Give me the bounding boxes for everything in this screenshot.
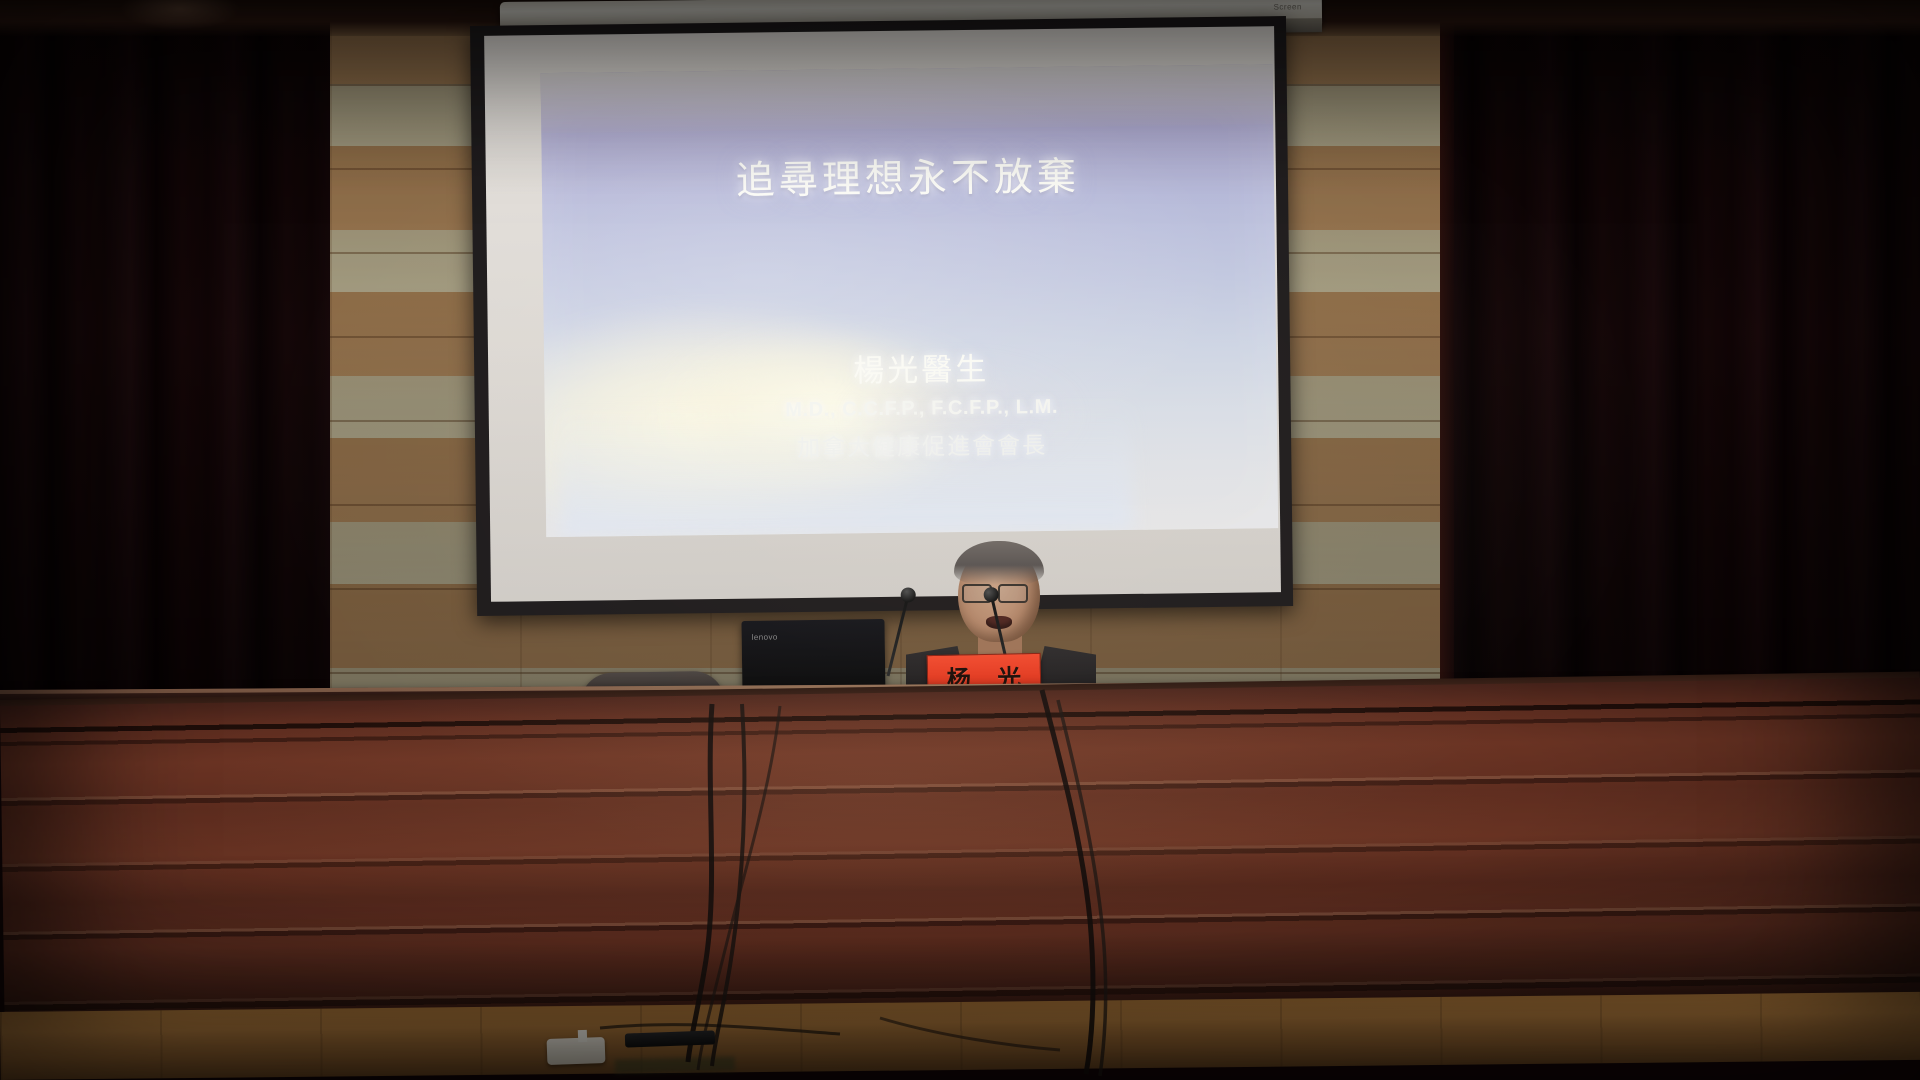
stage-curtain-right [1420,0,1920,740]
slide-top-band [541,64,1274,133]
hair [954,541,1044,585]
slide-speaker-name: 楊光醫生 [566,347,1276,394]
screen-surface: 追尋理想永不放棄 楊光醫生 M.D., C.C.F.P., F.C.F.P., … [484,26,1281,602]
power-strip [547,1037,606,1065]
roller-brand-label: Screen [1274,2,1302,11]
lecture-hall-photo: Screen 追尋理想永不放棄 楊光醫生 M.D., C.C.F.P., F.C… [0,0,1920,1080]
ceiling-fixture-smudge [120,0,240,30]
stage-curtain-left [0,0,350,740]
laptop-brand-logo: lenovo [752,632,778,641]
slide-title: 追尋理想永不放棄 [542,143,1275,208]
eyeglasses-right-lens [998,584,1028,603]
slide-byline-block: 楊光醫生 M.D., C.C.F.P., F.C.F.P., L.M. 加拿大健… [544,347,1277,466]
slide-organization: 加拿大健康促進會會長 [567,423,1277,466]
projection-screen: 追尋理想永不放棄 楊光醫生 M.D., C.C.F.P., F.C.F.P., … [470,16,1293,616]
projected-slide: 追尋理想永不放棄 楊光醫生 M.D., C.C.F.P., F.C.F.P., … [541,64,1279,537]
power-strip-plug [578,1030,587,1042]
stage-shading [0,678,1920,1036]
slide-credentials: M.D., C.C.F.P., F.C.F.P., L.M. [567,393,1277,425]
